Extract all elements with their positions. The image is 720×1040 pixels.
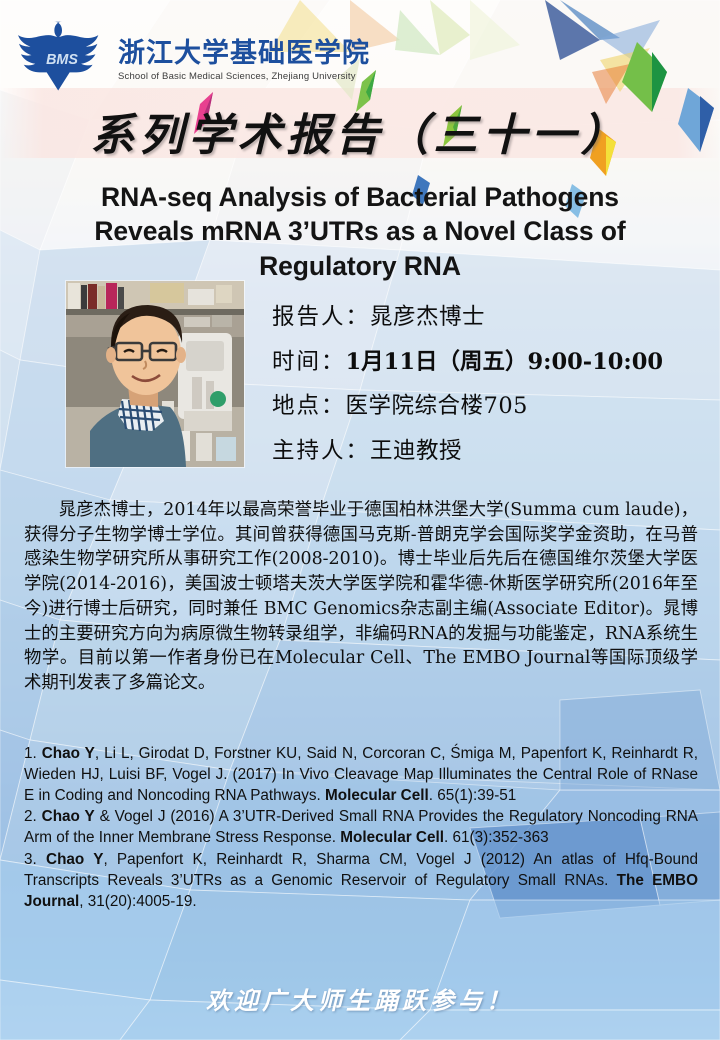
reference-item: 2. Chao Y & Vogel J (2016) A 3’UTR-Deriv… <box>24 807 698 849</box>
detail-host-value: 王迪教授 <box>370 438 462 464</box>
speaker-biography: 晁彦杰博士，2014年以最高荣誉毕业于德国柏林洪堡大学(Summa cum la… <box>24 498 698 696</box>
reference-item: 3. Chao Y, Papenfort K, Reinhardt R, Sha… <box>24 850 698 912</box>
reference-journal: Molecular Cell <box>340 829 444 846</box>
reference-item: 1. Chao Y, Li L, Girodat D, Forstner KU,… <box>24 744 698 806</box>
detail-location-value: 医学院综合楼705 <box>346 393 528 419</box>
detail-location-label: 地点： <box>272 393 346 419</box>
detail-speaker-value: 晁彦杰博士 <box>370 304 485 330</box>
reference-first-author: Chao Y <box>46 851 103 868</box>
bms-winged-emblem-logo-icon: BMS <box>14 16 110 102</box>
detail-speaker: 报告人：晁彦杰博士 <box>272 306 702 329</box>
poster-canvas: BMS 浙江大学基础医学院 School of Basic Medical Sc… <box>0 0 720 1040</box>
publication-list: 1. Chao Y, Li L, Girodat D, Forstner KU,… <box>24 744 698 913</box>
talk-title-line-3: Regulatory RNA <box>50 249 670 283</box>
welcome-footer: 欢迎广大师生踊跃参与！ <box>0 981 720 1016</box>
detail-host-label: 主持人： <box>272 438 370 464</box>
reference-citation: . 61(3):352-363 <box>444 829 549 846</box>
reference-first-author: Chao Y <box>42 745 95 762</box>
detail-time-value: 1月11日（周五）9:00-10:00 <box>346 349 664 375</box>
reference-number: 2. <box>24 808 37 825</box>
institution-header: BMS 浙江大学基础医学院 School of Basic Medical Sc… <box>14 16 370 102</box>
reference-journal: Molecular Cell <box>325 787 429 804</box>
institution-name-cn: 浙江大学基础医学院 <box>118 40 370 68</box>
reference-authors: , Papenfort K, Reinhardt R, Sharma CM, V… <box>24 851 698 889</box>
speaker-photo <box>66 281 244 467</box>
reference-citation: . 65(1):39-51 <box>429 787 517 804</box>
detail-time: 时间：1月11日（周五）9:00-10:00 <box>272 351 702 374</box>
institution-name-en: School of Basic Medical Sciences, Zhejia… <box>118 71 370 82</box>
talk-title-line-2: Reveals mRNA 3’UTRs as a Novel Class of <box>50 214 670 248</box>
talk-title-en: RNA-seq Analysis of Bacterial Pathogens … <box>50 180 670 283</box>
svg-text:BMS: BMS <box>46 52 78 68</box>
talk-title-line-1: RNA-seq Analysis of Bacterial Pathogens <box>50 180 670 214</box>
reference-citation: , 31(20):4005-19. <box>79 893 196 910</box>
detail-time-label: 时间： <box>272 349 346 375</box>
event-details: 报告人：晁彦杰博士 时间：1月11日（周五）9:00-10:00 地点：医学院综… <box>272 306 702 484</box>
detail-location: 地点：医学院综合楼705 <box>272 395 702 418</box>
reference-number: 3. <box>24 851 37 868</box>
detail-host: 主持人：王迪教授 <box>272 440 702 463</box>
page-title-cn: 系列学术报告（三十一） <box>0 99 720 163</box>
reference-number: 1. <box>24 745 37 762</box>
reference-first-author: Chao Y <box>42 808 95 825</box>
detail-speaker-label: 报告人： <box>272 304 370 330</box>
